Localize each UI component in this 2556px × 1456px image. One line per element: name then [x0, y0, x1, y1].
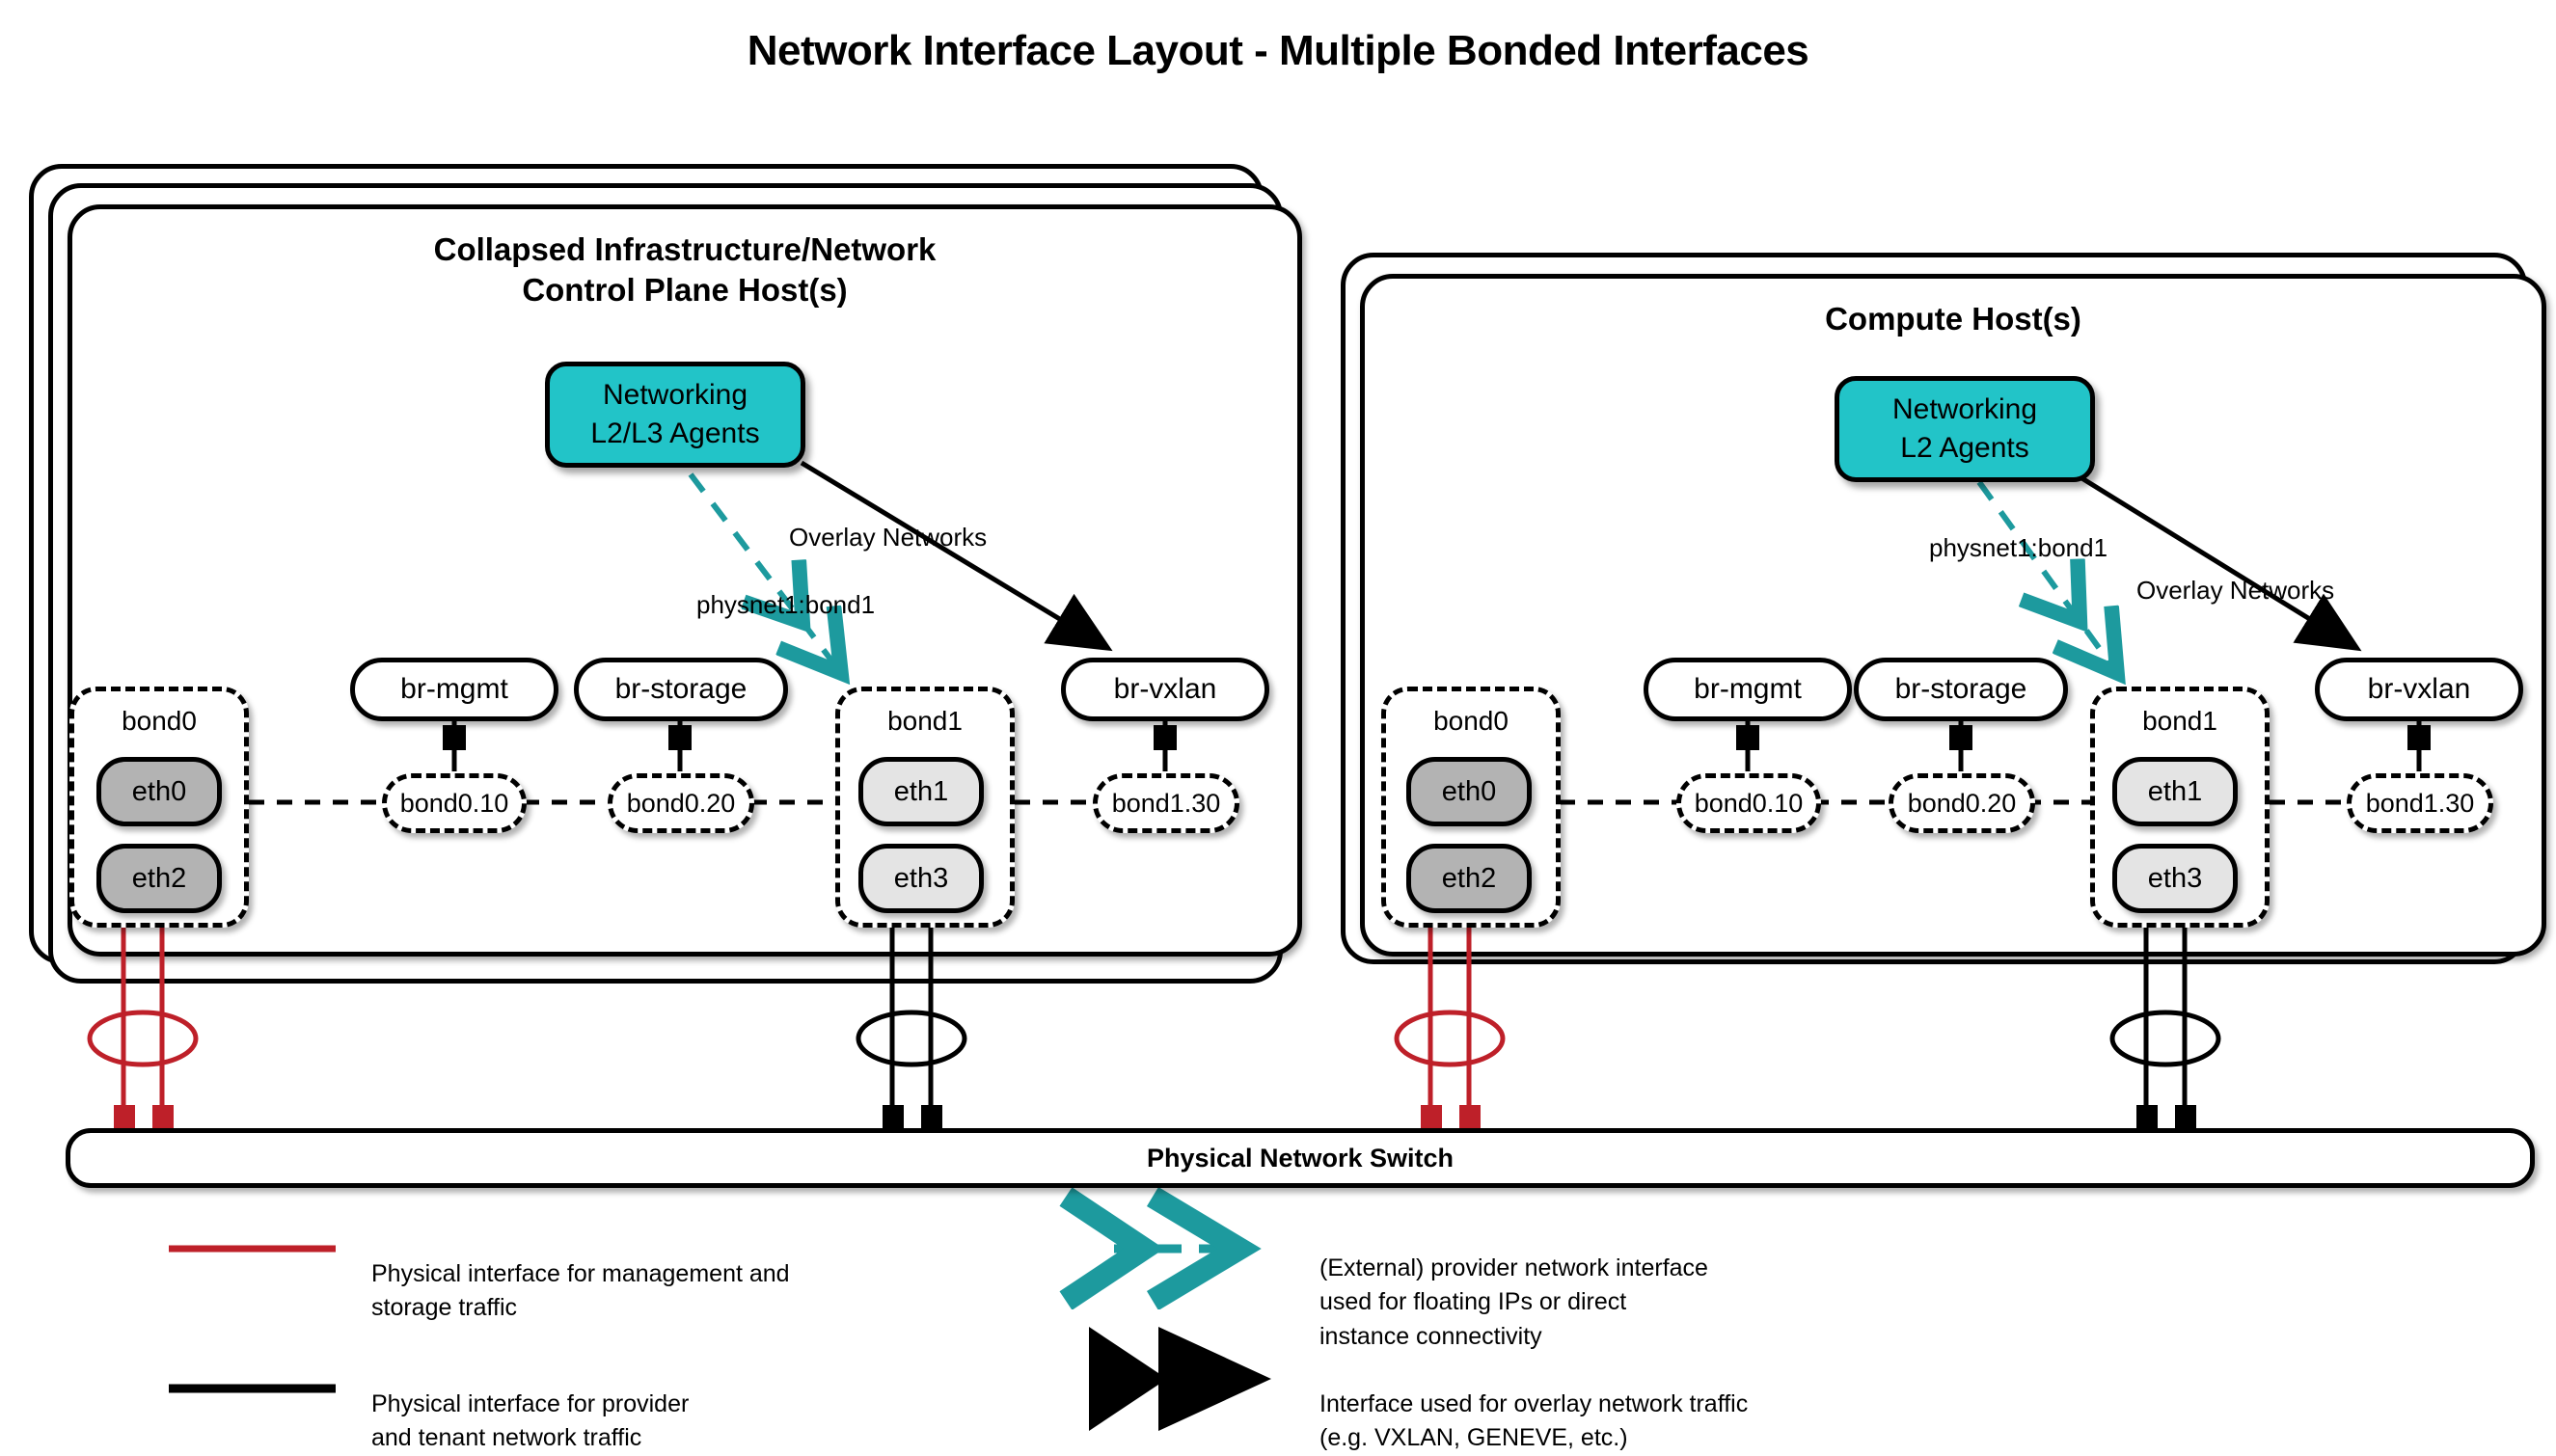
bridge-br-mgmt-left[interactable]: br-mgmt: [350, 658, 558, 721]
legend-item-overlay: Interface used for overlay network traff…: [1319, 1353, 1898, 1456]
bond1-downlink-right: [2112, 906, 2218, 1114]
bond-group-label: bond1: [2095, 705, 2265, 738]
nic-eth2-left[interactable]: eth2: [96, 844, 222, 913]
provider-link-left: [691, 474, 841, 673]
bridge-stems-left: [454, 721, 1165, 771]
nic-eth3-left[interactable]: eth3: [858, 844, 984, 913]
nic-eth0-right[interactable]: eth0: [1406, 757, 1532, 826]
bond1-downlink-left: [858, 906, 965, 1114]
nic-eth2-right[interactable]: eth2: [1406, 844, 1532, 913]
bridge-stems-right: [1748, 721, 2419, 771]
bridge-br-storage-left[interactable]: br-storage: [574, 658, 788, 721]
annotation-overlay-left: Overlay Networks: [789, 523, 987, 553]
annotation-physnet-right: physnet1:bond1: [1929, 533, 2107, 563]
physical-network-switch[interactable]: Physical Network Switch: [66, 1128, 2535, 1188]
agents-label: Networking L2 Agents: [1892, 391, 2037, 469]
bond0-downlink-left: [90, 906, 196, 1114]
agents-label: Networking L2/L3 Agents: [590, 376, 759, 454]
bond-group-label: bond0: [74, 705, 244, 738]
vlan-bond0-10-left[interactable]: bond0.10: [382, 773, 527, 833]
agents-box-compute[interactable]: Networking L2 Agents: [1835, 376, 2095, 482]
vlan-bond0-20-right[interactable]: bond0.20: [1889, 773, 2035, 833]
bridge-stem-blocks-right: [1736, 725, 2431, 750]
annotation-overlay-right: Overlay Networks: [2136, 576, 2334, 606]
bridge-br-vxlan-right[interactable]: br-vxlan: [2315, 658, 2523, 721]
nic-eth3-right[interactable]: eth3: [2112, 844, 2238, 913]
legend-item-external-provider: (External) provider network interface us…: [1319, 1217, 1860, 1354]
bond0-downlink-right: [1397, 906, 1503, 1114]
bond-group-label: bond1: [840, 705, 1010, 738]
vlan-bond0-10-right[interactable]: bond0.10: [1676, 773, 1821, 833]
bond-group-label: bond0: [1386, 705, 1556, 738]
bridge-br-mgmt-right[interactable]: br-mgmt: [1644, 658, 1852, 721]
bridge-br-storage-right[interactable]: br-storage: [1854, 658, 2068, 721]
switch-label: Physical Network Switch: [1147, 1144, 1454, 1173]
bridge-stem-blocks-left: [443, 725, 1177, 750]
bridge-br-vxlan-left[interactable]: br-vxlan: [1061, 658, 1269, 721]
legend-item-management-storage: Physical interface for management and st…: [371, 1223, 873, 1326]
annotation-physnet-left: physnet1:bond1: [696, 590, 875, 620]
nic-eth0-left[interactable]: eth0: [96, 757, 222, 826]
vlan-bond1-30-left[interactable]: bond1.30: [1093, 773, 1239, 833]
diagram-canvas: Network Interface Layout - Multiple Bond…: [0, 0, 2556, 1427]
provider-link-right: [1979, 482, 2117, 673]
overlay-link-right: [2076, 474, 2353, 646]
vlan-bond1-30-right[interactable]: bond1.30: [2347, 773, 2493, 833]
agents-box-control-plane[interactable]: Networking L2/L3 Agents: [545, 362, 805, 468]
vlan-bond0-20-left[interactable]: bond0.20: [608, 773, 754, 833]
nic-eth1-right[interactable]: eth1: [2112, 757, 2238, 826]
nic-eth1-left[interactable]: eth1: [858, 757, 984, 826]
legend-item-provider-tenant: Physical interface for provider and tena…: [371, 1353, 873, 1456]
